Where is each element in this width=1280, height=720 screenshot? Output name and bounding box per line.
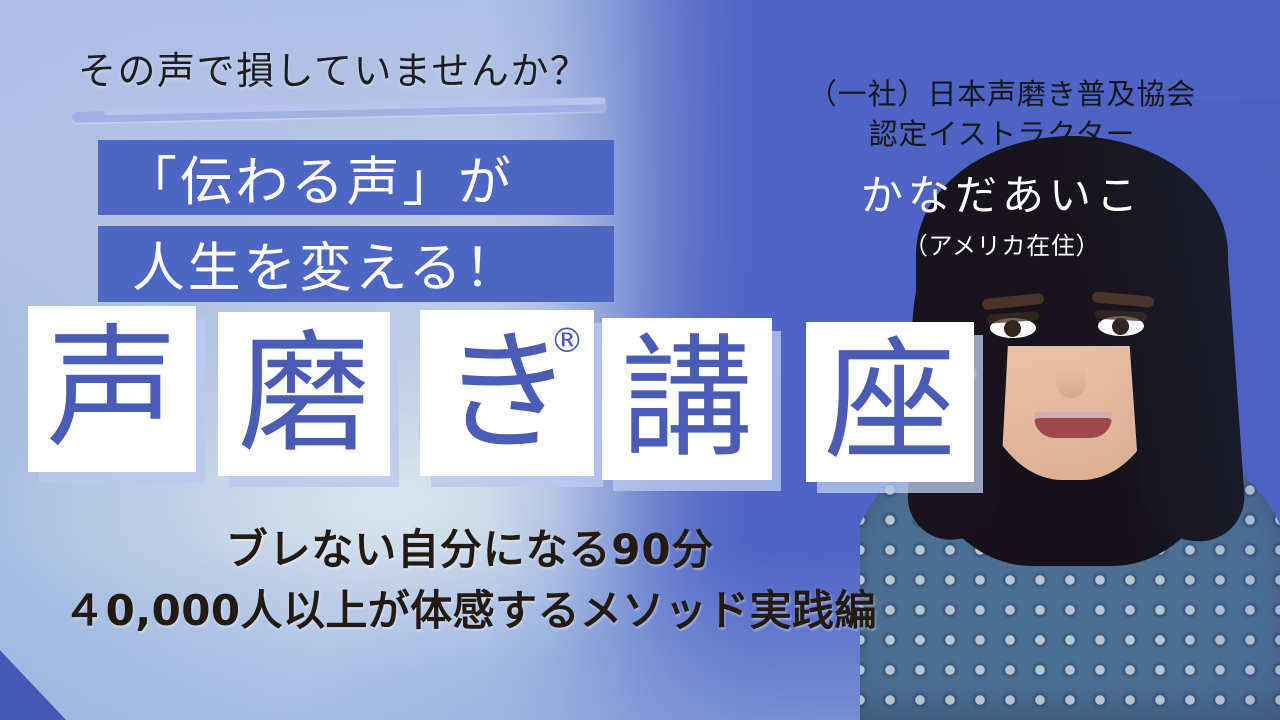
credit-role: 認定イストラクター <box>752 114 1252 154</box>
title-glyph-2: 磨 <box>238 328 370 460</box>
title-glyph-1: 声 <box>46 323 178 455</box>
tagline-line-1: ブレない自分になる90分 <box>0 520 940 581</box>
title-glyph-5: 座 <box>824 336 956 468</box>
credit-organization: （一社）日本声磨き普及協会 <box>752 74 1252 114</box>
title-tile-1: 声 <box>28 306 196 472</box>
credit-location: （アメリカ在住） <box>752 226 1252 261</box>
title-tile-4: 講 <box>602 318 772 480</box>
presenter-credit-block: （一社）日本声磨き普及協会 認定イストラクター かなだあいこ （アメリカ在住） <box>752 74 1252 261</box>
tagline-line-2: ４0,000人以上が体感するメソッド実践編 <box>0 581 940 642</box>
title-tile-3: き ® <box>420 310 594 476</box>
tagline-block: ブレない自分になる90分 ４0,000人以上が体感するメソッド実践編 <box>0 520 940 642</box>
title-tile-2: 磨 <box>218 312 390 476</box>
title-glyph-4: 講 <box>621 333 753 465</box>
title-glyph-3: き <box>441 327 573 459</box>
credit-name: かなだあいこ <box>752 172 1252 220</box>
title-tile-5: 座 <box>806 322 974 482</box>
promo-banner: その声で損していませんか？ 「伝わる声」が 人生を変える！ 声 磨 き ® 講 … <box>0 0 1280 720</box>
